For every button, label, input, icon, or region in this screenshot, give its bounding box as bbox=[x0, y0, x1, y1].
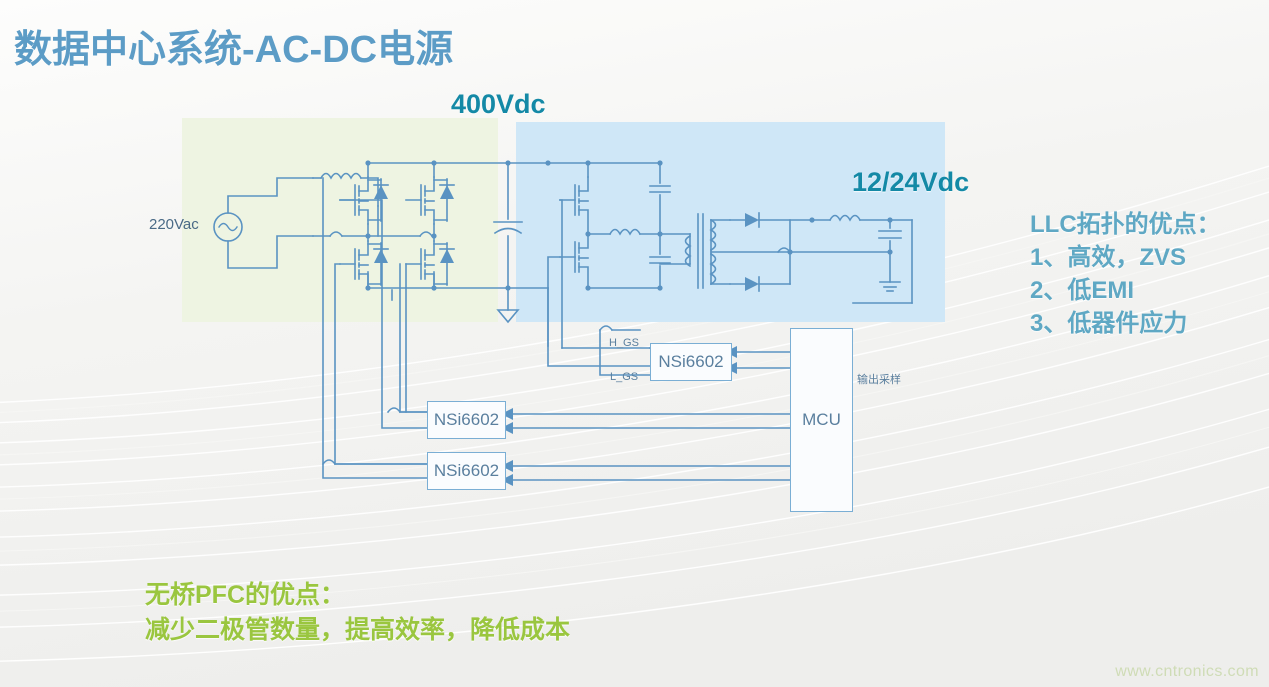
net-label-h-gs: H_GS bbox=[609, 337, 639, 349]
mosfet-llc-high bbox=[560, 177, 588, 234]
llc-note-item-1: 1、高效，ZVS bbox=[1030, 241, 1221, 274]
pfc-advantages-note: 无桥PFC的优点： 减少二极管数量，提高效率，降低成本 bbox=[145, 578, 570, 648]
gate-driver-label: NSi6602 bbox=[434, 461, 499, 481]
gate-driver-label: NSi6602 bbox=[658, 352, 723, 372]
output-voltage-label: 12/24Vdc bbox=[852, 167, 969, 198]
llc-note-heading: LLC拓扑的优点： bbox=[1030, 208, 1221, 241]
pfc-note-body: 减少二极管数量，提高效率，降低成本 bbox=[145, 613, 570, 648]
net-label-l-gs: L_GS bbox=[610, 371, 638, 383]
site-watermark: www.cntronics.com bbox=[1115, 663, 1259, 681]
gate-driver-label: NSi6602 bbox=[434, 410, 499, 430]
rectifier-diode-lower bbox=[730, 220, 790, 291]
mcu-block[interactable]: MCU bbox=[790, 328, 853, 512]
mosfet-q3 bbox=[340, 241, 388, 288]
llc-advantages-note: LLC拓扑的优点： 1、高效，ZVS 2、低EMI 3、低器件应力 bbox=[1030, 208, 1221, 340]
llc-note-item-2: 2、低EMI bbox=[1030, 274, 1221, 307]
mosfet-q2 bbox=[406, 177, 454, 224]
page-title: 数据中心系统-AC-DC电源 bbox=[14, 18, 453, 73]
bus-voltage-label: 400Vdc bbox=[451, 89, 546, 120]
mosfet-q4 bbox=[406, 241, 454, 288]
gate-driver-pfc-a[interactable]: NSi6602 bbox=[427, 401, 506, 439]
rectifier-diode-upper bbox=[730, 213, 812, 227]
gate-driver-pfc-b[interactable]: NSi6602 bbox=[427, 452, 506, 490]
gate-driver-llc[interactable]: NSi6602 bbox=[650, 343, 732, 381]
net-label-output-sampling: 输出采样 bbox=[857, 371, 901, 387]
mosfet-llc-low bbox=[560, 234, 588, 288]
llc-note-item-3: 3、低器件应力 bbox=[1030, 307, 1221, 340]
input-voltage-label: 220Vac bbox=[149, 216, 199, 233]
mcu-label: MCU bbox=[802, 410, 841, 430]
pfc-note-heading: 无桥PFC的优点： bbox=[145, 578, 570, 613]
